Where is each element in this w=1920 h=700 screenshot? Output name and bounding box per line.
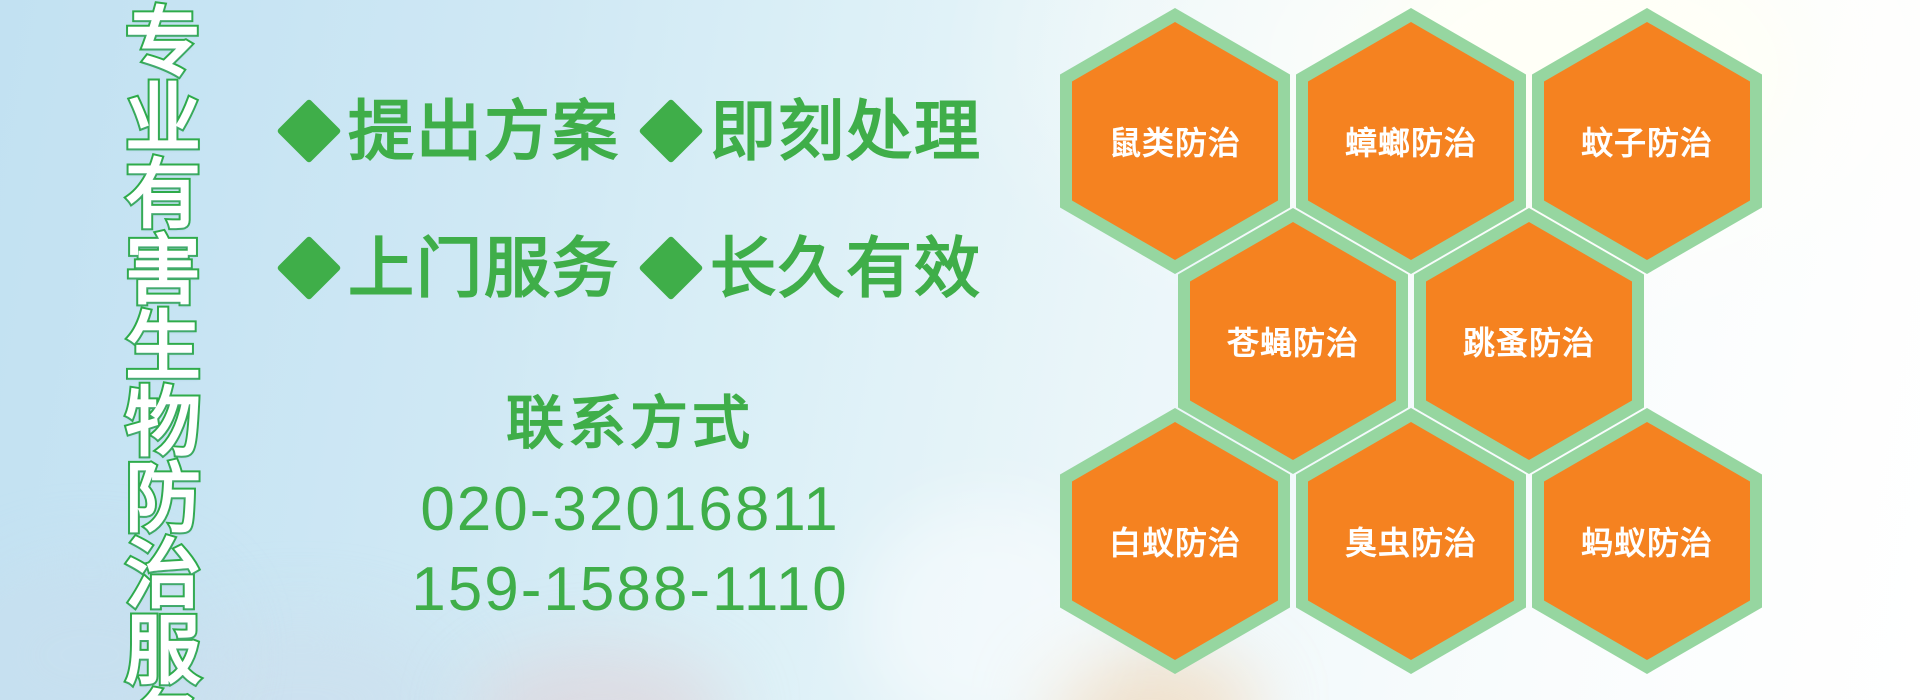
hex-cell-ant[interactable]: 蚂蚁防治 <box>1532 408 1762 674</box>
vertical-headline: 专 业 有 害 生 物 防 治 服 务 <box>110 6 216 696</box>
vertical-headline-char: 服 <box>125 614 201 690</box>
diamond-icon <box>638 98 703 163</box>
contact-heading: 联系方式 <box>300 390 960 458</box>
hex-label: 苍蝇防治 <box>1227 318 1359 364</box>
vertical-headline-char: 治 <box>125 538 201 614</box>
phone-number-mobile[interactable]: 159-1588-1110 <box>300 550 960 630</box>
vertical-headline-char: 有 <box>125 158 201 234</box>
feature-row-1: 提出方案 即刻处理 <box>286 96 982 166</box>
vertical-headline-char: 业 <box>125 82 201 158</box>
feature-label: 即刻处理 <box>710 96 982 166</box>
hex-label: 白蚁防治 <box>1109 518 1241 564</box>
vertical-headline-char: 务 <box>125 690 201 700</box>
hex-label: 蟑螂防治 <box>1345 118 1477 164</box>
contact-block: 联系方式 020-32016811 159-1588-1110 <box>300 390 960 630</box>
background-blur-blob <box>470 650 730 700</box>
diamond-icon <box>276 98 341 163</box>
feature-item: 即刻处理 <box>648 96 982 166</box>
hex-cell-bedbug[interactable]: 臭虫防治 <box>1296 408 1526 674</box>
service-honeycomb: 鼠类防治 蟑螂防治 蚊子防治 苍蝇防治 跳蚤防治 <box>1060 0 1760 700</box>
hex-cell-termite[interactable]: 白蚁防治 <box>1060 408 1290 674</box>
vertical-headline-char: 生 <box>125 310 201 386</box>
feature-label: 长久有效 <box>710 233 982 303</box>
feature-label: 提出方案 <box>348 96 620 166</box>
hex-label: 蚂蚁防治 <box>1581 518 1713 564</box>
feature-item: 长久有效 <box>648 233 982 303</box>
hex-label: 鼠类防治 <box>1109 118 1241 164</box>
feature-label: 上门服务 <box>348 233 620 303</box>
vertical-headline-char: 害 <box>125 234 201 310</box>
feature-item: 提出方案 <box>286 96 648 166</box>
feature-row-2: 上门服务 长久有效 <box>286 233 982 303</box>
diamond-icon <box>276 235 341 300</box>
phone-number-landline[interactable]: 020-32016811 <box>300 470 960 550</box>
vertical-headline-char: 防 <box>125 462 201 538</box>
vertical-headline-char: 物 <box>125 386 201 462</box>
feature-item: 上门服务 <box>286 233 648 303</box>
hex-label: 臭虫防治 <box>1345 518 1477 564</box>
vertical-headline-char: 专 <box>125 6 201 82</box>
hex-label: 蚊子防治 <box>1581 118 1713 164</box>
hex-label: 跳蚤防治 <box>1463 318 1595 364</box>
diamond-icon <box>638 235 703 300</box>
promo-banner: 专 业 有 害 生 物 防 治 服 务 提出方案 即刻处理 上门服务 长久有效 <box>0 0 1920 700</box>
